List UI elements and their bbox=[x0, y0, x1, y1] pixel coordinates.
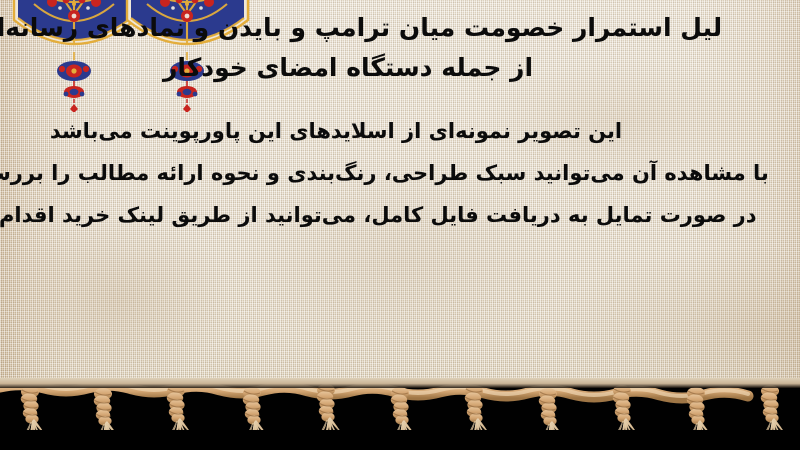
body-line-3: در صورت تمایل به دریافت فایل کامل، می‌تو… bbox=[0, 194, 800, 236]
body-line-2: با مشاهده آن می‌توانید سبک طراحی، رنگ‌بن… bbox=[0, 152, 800, 194]
slide-title: لیل استمرار خصومت میان ترامپ و بایدن و ن… bbox=[0, 8, 800, 88]
fringe-cap-edge bbox=[0, 378, 800, 388]
slide-body: این تصویر نمونه‌ای از اسلایدهای این پاور… bbox=[0, 110, 800, 236]
presentation-slide: لیل استمرار خصومت میان ترامپ و بایدن و ن… bbox=[0, 0, 800, 450]
body-line-1: این تصویر نمونه‌ای از اسلایدهای این پاور… bbox=[0, 110, 800, 152]
title-line-2: از جمله دستگاه امضای خودکار bbox=[0, 48, 800, 88]
title-line-1: لیل استمرار خصومت میان ترامپ و بایدن و ن… bbox=[0, 8, 800, 48]
slide-bottom-black-bar bbox=[0, 430, 800, 450]
